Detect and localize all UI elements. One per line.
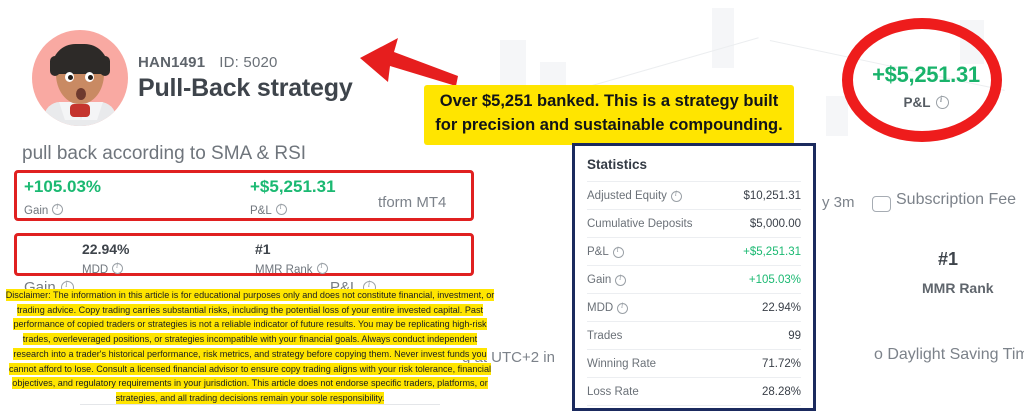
info-icon[interactable] <box>613 247 624 258</box>
statistics-row: Cumulative Deposits$5,000.00 <box>587 209 801 237</box>
statistics-label-text: Loss Rate <box>587 386 639 398</box>
red-arrow-annotation <box>358 36 462 92</box>
pl-label: P&L <box>250 203 287 217</box>
circled-pl-label: P&L <box>856 94 996 110</box>
statistics-row-value: +$5,251.31 <box>743 246 801 258</box>
statistics-row-label: Trades <box>587 330 622 342</box>
screenshot-stage: HAN1491ID: 5020 Pull-Back strategy pull … <box>0 0 1024 411</box>
statistics-label-text: Trades <box>587 330 622 342</box>
gain-value: +105.03% <box>24 177 101 197</box>
disclaimer-text: Disclaimer: The information in this arti… <box>4 288 496 406</box>
statistics-row: Expectancy+$53.04 <box>587 405 801 411</box>
avatar-sideburn-left <box>50 56 60 76</box>
statistics-row-value: $10,251.31 <box>743 190 801 202</box>
background-duration-text: y 3m <box>822 194 855 211</box>
pl-value: +$5,251.31 <box>250 177 336 197</box>
statistics-rows: Adjusted Equity$10,251.31Cumulative Depo… <box>587 181 801 411</box>
mdd-label: MDD <box>82 262 123 276</box>
statistics-row-label: P&L <box>587 246 624 258</box>
info-icon[interactable] <box>936 96 949 109</box>
statistics-row-value: +105.03% <box>749 274 801 286</box>
statistics-row: MDD22.94% <box>587 293 801 321</box>
statistics-row-label: Winning Rate <box>587 358 656 370</box>
strategy-subtitle: pull back according to SMA & RSI <box>22 143 306 165</box>
mdd-value: 22.94% <box>82 241 129 257</box>
trader-handle: HAN1491 <box>138 54 205 71</box>
statistics-title: Statistics <box>587 146 801 181</box>
info-icon[interactable] <box>671 191 682 202</box>
divider <box>80 404 440 405</box>
background-dst-text: o Daylight Saving Time adjustm <box>874 346 1024 364</box>
background-rank-label: MMR Rank <box>922 280 994 296</box>
statistics-row-label: Adjusted Equity <box>587 190 682 202</box>
statistics-row-label: Cumulative Deposits <box>587 218 692 230</box>
statistics-label-text: Winning Rate <box>587 358 656 370</box>
statistics-row-value: $5,000.00 <box>750 218 801 230</box>
info-icon[interactable] <box>615 275 626 286</box>
info-icon[interactable] <box>317 263 328 274</box>
mmr-rank-value: #1 <box>255 241 271 257</box>
statistics-row-value: 99 <box>788 330 801 342</box>
avatar-pupil-right <box>88 75 93 80</box>
subscription-icon <box>872 196 891 212</box>
background-watermark-bar <box>826 96 848 136</box>
statistics-row-value: 22.94% <box>762 302 801 314</box>
background-subscription-fee-text: Subscription Fee <box>896 191 1016 209</box>
trader-identity: HAN1491ID: 5020 <box>138 54 278 71</box>
circled-pl-value: +$5,251.31 <box>856 62 996 88</box>
page-title: Pull-Back strategy <box>138 74 353 103</box>
statistics-row: P&L+$5,251.31 <box>587 237 801 265</box>
statistics-row-label: Gain <box>587 274 626 286</box>
avatar-bowtie <box>70 104 90 117</box>
statistics-label-text: MDD <box>587 302 613 314</box>
callout-banner: Over $5,251 banked. This is a strategy b… <box>424 85 794 145</box>
statistics-label-text: P&L <box>587 246 609 258</box>
statistics-row: Gain+105.03% <box>587 265 801 293</box>
background-watermark-bar <box>712 8 734 68</box>
background-platform-text: tform MT4 <box>378 194 446 211</box>
trader-id: ID: 5020 <box>219 54 277 71</box>
info-icon[interactable] <box>52 204 63 215</box>
statistics-label-text: Adjusted Equity <box>587 190 667 202</box>
info-icon[interactable] <box>112 263 123 274</box>
statistics-label-text: Gain <box>587 274 611 286</box>
background-rank-value: #1 <box>938 249 958 270</box>
statistics-row-label: MDD <box>587 302 628 314</box>
info-icon[interactable] <box>276 204 287 215</box>
mmr-rank-label: MMR Rank <box>255 262 328 276</box>
statistics-row-label: Loss Rate <box>587 386 639 398</box>
avatar-sideburn-right <box>100 56 110 76</box>
statistics-row-value: 71.72% <box>762 358 801 370</box>
avatar-mouth <box>76 88 86 100</box>
statistics-panel: Statistics Adjusted Equity$10,251.31Cumu… <box>572 143 816 411</box>
statistics-label-text: Cumulative Deposits <box>587 218 692 230</box>
statistics-row: Trades99 <box>587 321 801 349</box>
avatar-pupil-left <box>68 75 73 80</box>
info-icon[interactable] <box>617 303 628 314</box>
statistics-row: Loss Rate28.28% <box>587 377 801 405</box>
gain-label: Gain <box>24 203 63 217</box>
statistics-row: Adjusted Equity$10,251.31 <box>587 181 801 209</box>
avatar <box>32 30 128 126</box>
statistics-row-value: 28.28% <box>762 386 801 398</box>
statistics-row: Winning Rate71.72% <box>587 349 801 377</box>
